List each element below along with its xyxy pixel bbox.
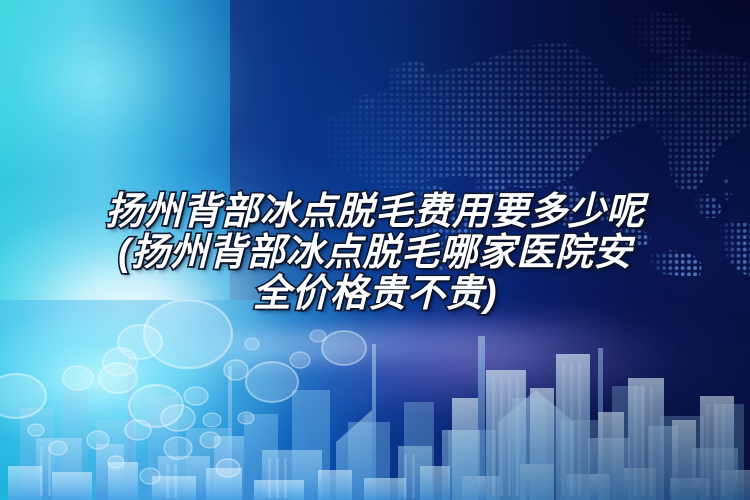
headline-line-2: (扬州背部冰点脱毛哪家医院安 xyxy=(28,233,722,274)
page-title: 扬州背部冰点脱毛费用要多少呢 (扬州背部冰点脱毛哪家医院安 全价格贵不贵) xyxy=(0,192,750,315)
headline-line-3: 全价格贵不贵) xyxy=(28,274,722,315)
headline-line-1: 扬州背部冰点脱毛费用要多少呢 xyxy=(28,192,722,233)
promo-banner: 扬州背部冰点脱毛费用要多少呢 (扬州背部冰点脱毛哪家医院安 全价格贵不贵) xyxy=(0,0,750,500)
